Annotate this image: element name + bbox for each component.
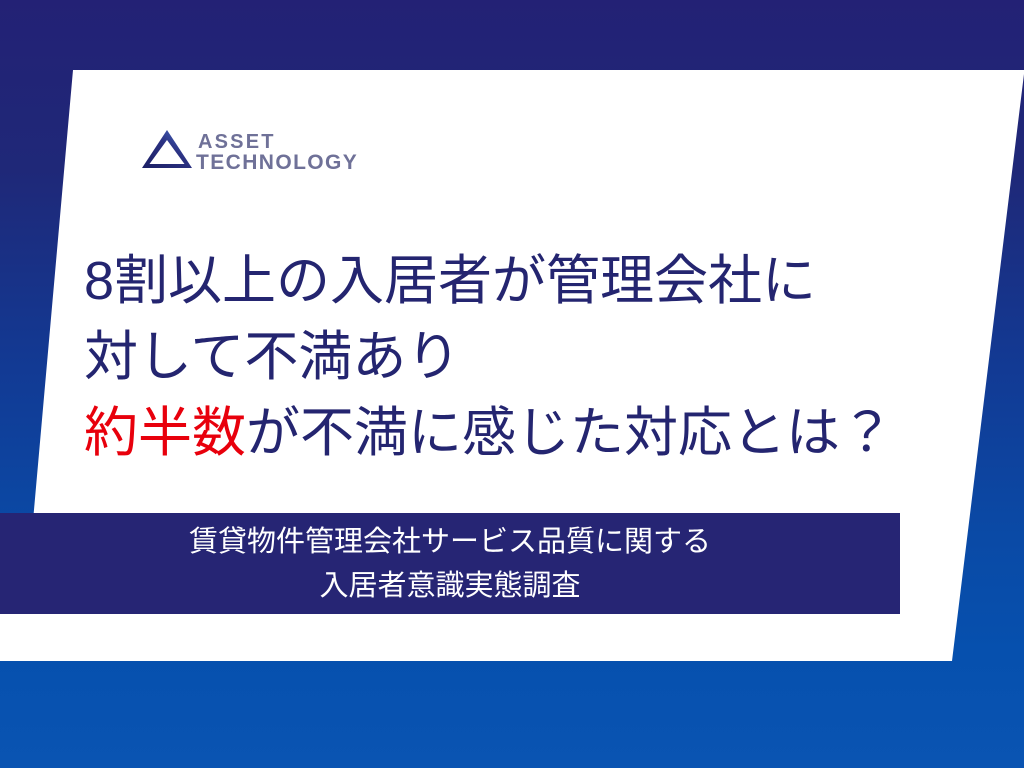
headline-line-1: 8割以上の入居者が管理会社に: [84, 243, 944, 319]
subtitle-banner: 賃貸物件管理会社サービス品質に関する 入居者意識実態調査: [0, 513, 900, 614]
headline-line-2: 対して不満あり: [84, 319, 944, 395]
subtitle-line-2: 入居者意識実態調査: [319, 564, 580, 608]
headline-accent-text: 約半数: [84, 403, 246, 463]
logo-text-technology: TECHNOLOGY: [196, 151, 358, 174]
triangle-logo-icon: [142, 130, 192, 168]
presentation-slide: ASSET TECHNOLOGY 8割以上の入居者が管理会社に 対して不満あり …: [0, 0, 1024, 768]
headline-line-3: 約半数が不満に感じた対応とは？: [84, 395, 944, 471]
logo-text-asset: ASSET: [198, 131, 276, 153]
subtitle-line-1: 賃貸物件管理会社サービス品質に関する: [189, 520, 711, 564]
headline-line-3-rest: が不満に感じた対応とは？: [246, 403, 894, 463]
asset-technology-logo: ASSET TECHNOLOGY: [138, 124, 368, 180]
headline-block: 8割以上の入居者が管理会社に 対して不満あり 約半数が不満に感じた対応とは？: [84, 243, 944, 471]
